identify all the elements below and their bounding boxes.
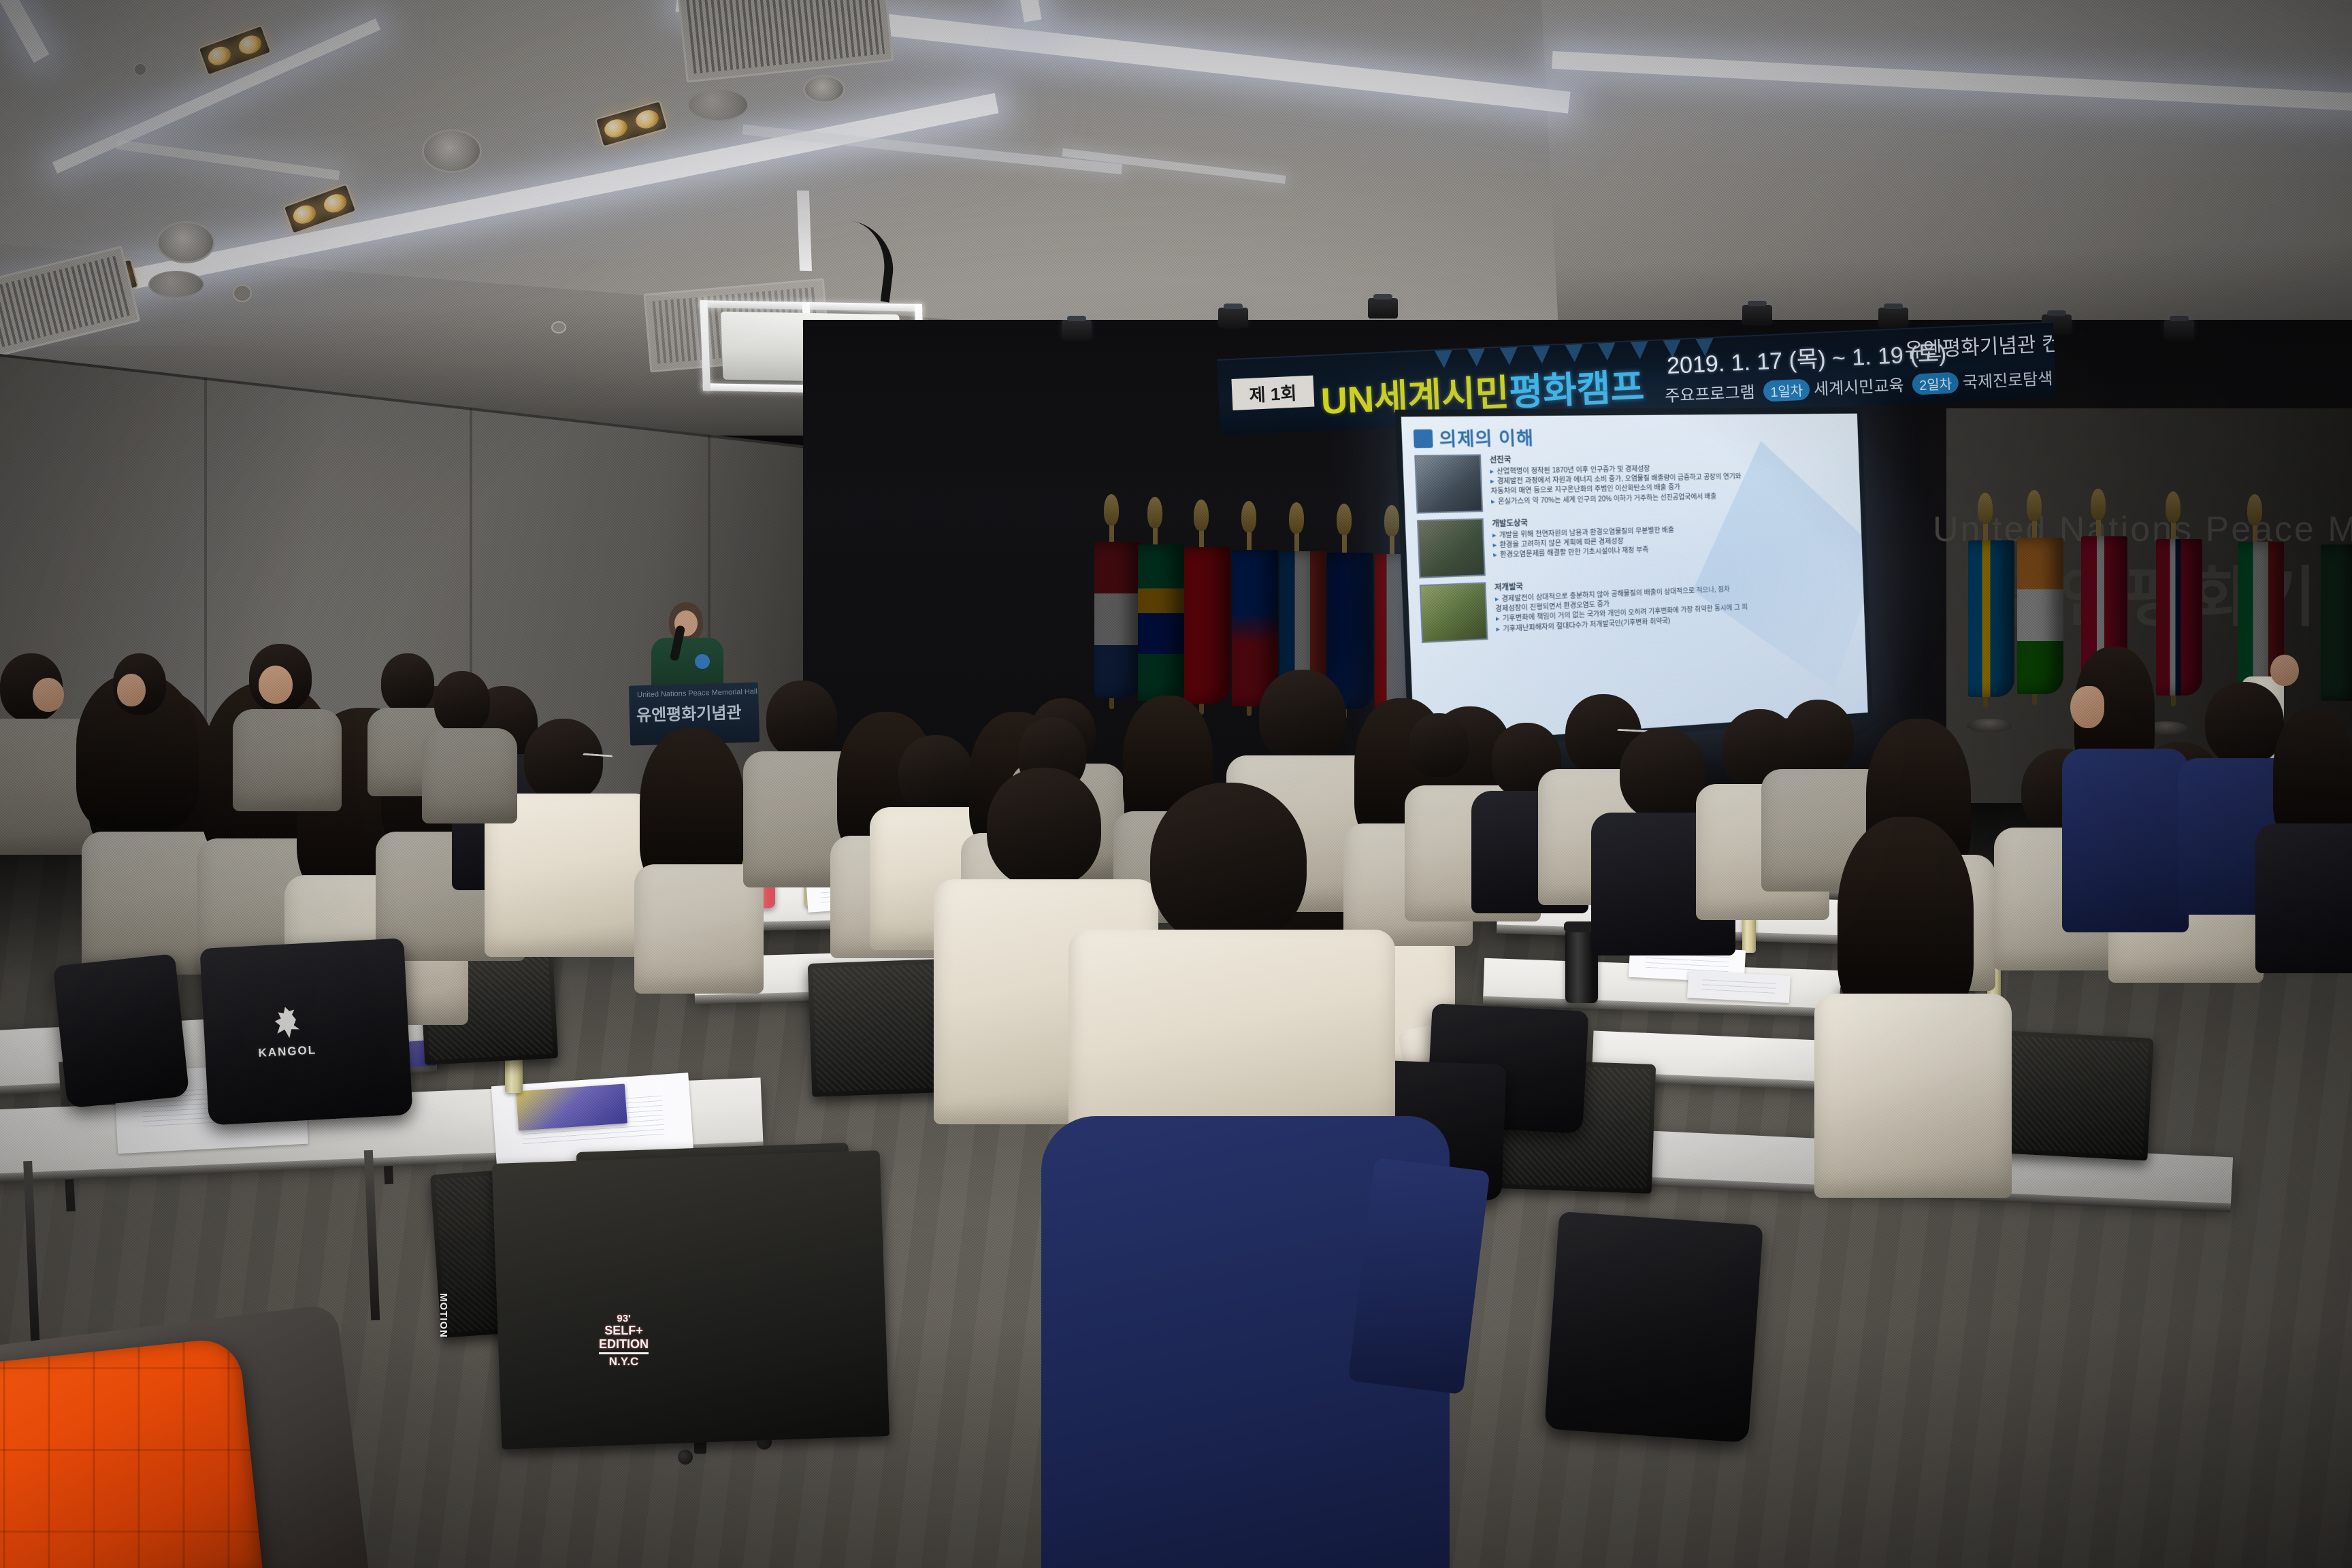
india-flag [2017, 538, 2063, 694]
slide-image-industry [1414, 454, 1483, 513]
slide-section: 저개발국 경제발전이 상대적으로 충분하지 않아 공해물질의 배출이 상대적으로… [1420, 568, 1859, 643]
norway-flag [2156, 539, 2202, 696]
jacket-brand-label: 93' SELF+ EDITION N.Y.C [599, 1313, 649, 1368]
projector-cage-bar [700, 300, 710, 391]
slide-body: 선진국 산업혁명이 정착된 1870년 이후 인구증가 및 경제성장 경제발전 … [1414, 448, 1861, 741]
banner-venue: 유엔평화기념관 컨벤션홀 [1904, 324, 2056, 363]
recessed-downlight-icon [422, 129, 482, 173]
presenter-badge [695, 654, 710, 669]
turkey-flag [1184, 547, 1230, 704]
south-africa-flag [1138, 544, 1184, 701]
podium-label-korean: 유엔평화기념관 [636, 699, 741, 725]
chair-brand-label: MOTION [438, 1293, 449, 1338]
stage-truss-light-icon [1062, 320, 1092, 340]
lecture-hall-photo: United Nations Peace Memorial Hall 유엔평화기… [0, 0, 2352, 1568]
ceiling-ac-unit [0, 246, 140, 360]
slide-header: 의제의 이해 [1414, 424, 1535, 451]
backpack-brand-label: KANGOL [258, 1043, 317, 1060]
backpack-kangol[interactable]: KANGOL [199, 938, 412, 1125]
fire-sprinkler-head-icon [551, 321, 566, 333]
presenter [643, 602, 732, 691]
program-booklet[interactable] [516, 1083, 627, 1130]
recessed-downlight-icon [803, 75, 845, 103]
stage-truss-light-icon [1878, 308, 1908, 328]
banner-item-day1: 세계시민교육 [1814, 376, 1905, 399]
orange-puffer-jacket [0, 1337, 264, 1568]
jacket-label-line3: EDITION [599, 1338, 649, 1354]
chair[interactable] [1997, 1030, 2153, 1160]
recessed-downlight-icon [157, 221, 215, 263]
banner-chip-day2: 2일차 [1912, 372, 1959, 395]
flag-row-right [1967, 517, 2352, 735]
stage-truss-light-icon [1218, 308, 1248, 328]
printed-worksheet[interactable] [1687, 970, 1791, 1003]
stage-truss-light-icon [1368, 298, 1398, 318]
sweden-flag [1968, 540, 2014, 697]
led-cove-light-strip [1552, 51, 2352, 114]
podium-label-english: United Nations Peace Memorial Hall [637, 687, 757, 699]
jacket-label-line2: SELF+ [599, 1324, 649, 1337]
backpack-right-foreground[interactable] [1544, 1211, 1763, 1443]
jacket-label-line4: N.Y.C [599, 1356, 649, 1368]
projection-screen: 의제의 이해 선진국 산업혁명이 정착된 1870년 이후 인구증가 및 경제성… [1395, 407, 1873, 752]
chair-with-jacket[interactable] [492, 1150, 889, 1450]
jacket-label-line1: 93' [599, 1313, 649, 1324]
fire-sprinkler-head-icon [233, 284, 252, 302]
backpack[interactable] [53, 953, 190, 1109]
slide-section: 개발도상국 개발을 위해 천연자원의 남용과 환경오염물질의 무분별한 배출 환… [1417, 508, 1857, 578]
stage-truss-light-icon [1742, 305, 1772, 325]
fire-sprinkler-head-icon [133, 63, 147, 76]
flag-partial [2321, 544, 2352, 701]
banner-item-day2: 국제진로탐색 [1962, 370, 2053, 392]
netherlands-flag [1094, 542, 1141, 698]
projected-slide: 의제의 이해 선진국 산업혁명이 정착된 1870년 이후 인구증가 및 경제성… [1401, 414, 1868, 745]
slide-bullet-square-icon [1414, 429, 1433, 448]
banner-program-label: 주요프로그램 [1665, 383, 1756, 406]
banner-chip-day1: 1일차 [1763, 379, 1810, 402]
stage-truss-light-icon [2164, 320, 2194, 340]
slide-image-least-developed [1420, 582, 1488, 643]
banner-edition: 제 1회 [1231, 376, 1314, 410]
kangaroo-logo-icon [271, 1006, 304, 1039]
ceiling-speaker-icon [687, 88, 749, 121]
chair-caster [678, 1450, 693, 1465]
ceiling-speaker-icon [148, 271, 204, 298]
banner-title-accent: 평화캠프 [1508, 367, 1645, 414]
slide-title: 의제의 이해 [1439, 424, 1534, 451]
slide-image-developing [1417, 518, 1486, 578]
slide-section: 선진국 산업혁명이 정착된 1870년 이후 인구증가 및 경제성장 경제발전 … [1414, 448, 1854, 513]
